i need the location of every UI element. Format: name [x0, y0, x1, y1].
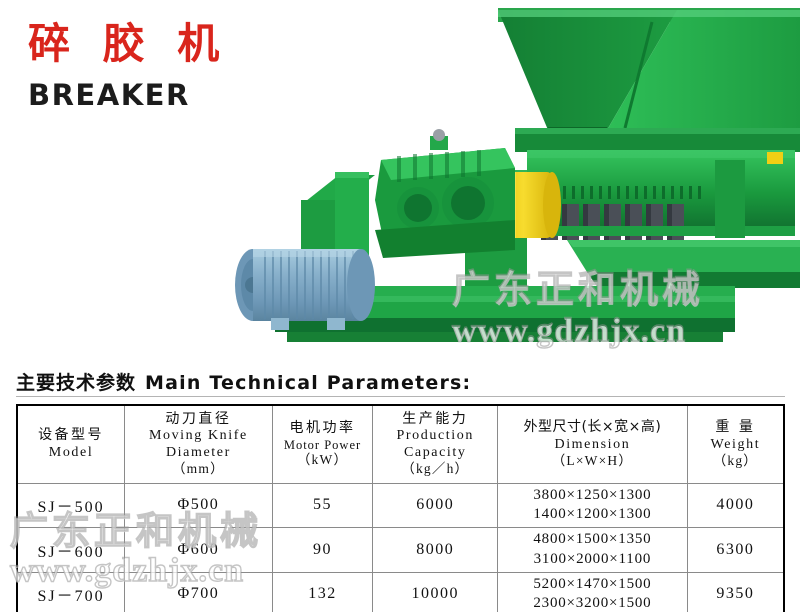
- column-header-motor-power-cn: 电机功率: [275, 420, 371, 438]
- column-header-capacity-en1: Production: [375, 428, 495, 445]
- hopper-icon: [498, 8, 800, 130]
- column-header-weight: 重 量 Weight （kg）: [687, 405, 784, 483]
- page-title-cn: 碎 胶 机: [28, 22, 228, 66]
- section-heading-en: Main Technical Parameters:: [145, 372, 471, 394]
- section-heading-cn: 主要技术参数: [16, 368, 136, 395]
- column-header-capacity: 生产能力 Production Capacity （kg／h）: [373, 405, 498, 483]
- column-header-dimension: 外型尺寸(长×宽×高) Dimension （L×W×H）: [498, 405, 688, 483]
- cell-dimension-line1: 3800×1250×1300: [500, 486, 685, 506]
- table-row: SJ－700 Φ700 132 10000 5200×1470×1500 230…: [17, 572, 784, 612]
- cell-dimension-line2: 2300×3200×1500: [500, 594, 685, 612]
- cell-model: SJ－700: [17, 572, 125, 612]
- column-header-motor-power-unit: （kW）: [275, 452, 371, 468]
- cell-dimension: 3800×1250×1300 1400×1200×1300: [498, 483, 688, 528]
- column-header-dimension-en: Dimension: [500, 437, 685, 454]
- specifications-table: 设备型号 Model 动刀直径 Moving Knife Diameter （m…: [16, 404, 785, 612]
- column-header-knife-diameter-cn: 动刀直径: [127, 411, 270, 429]
- column-header-capacity-unit: （kg／h）: [375, 461, 495, 477]
- column-header-knife-diameter-en2: Diameter: [127, 445, 270, 462]
- column-header-knife-diameter: 动刀直径 Moving Knife Diameter （mm）: [125, 405, 273, 483]
- cell-model: SJ－500: [17, 483, 125, 528]
- column-header-motor-power: 电机功率 Motor Power （kW）: [272, 405, 373, 483]
- cell-weight: 6300: [687, 528, 784, 573]
- cell-dimension-line2: 3100×2000×1100: [500, 550, 685, 570]
- cell-capacity: 10000: [373, 572, 498, 612]
- column-header-weight-unit: （kg）: [690, 453, 781, 469]
- cell-dimension: 4800×1500×1350 3100×2000×1100: [498, 528, 688, 573]
- gearbox-icon: [375, 129, 515, 258]
- column-header-model-cn: 设备型号: [20, 427, 122, 445]
- cell-knife-diameter: Φ600: [125, 528, 273, 573]
- cell-knife-diameter: Φ700: [125, 572, 273, 612]
- table-header-row: 设备型号 Model 动刀直径 Moving Knife Diameter （m…: [17, 405, 784, 483]
- cell-dimension: 5200×1470×1500 2300×3200×1500: [498, 572, 688, 612]
- title-block: 碎 胶 机 BREAKER: [28, 22, 228, 112]
- heading-divider: [16, 396, 785, 397]
- cell-model: SJ－600: [17, 528, 125, 573]
- column-header-model-en: Model: [20, 445, 122, 462]
- column-header-dimension-unit: （L×W×H）: [500, 453, 685, 469]
- column-header-capacity-en2: Capacity: [375, 445, 495, 462]
- cell-motor-power: 90: [272, 528, 373, 573]
- table-row: SJ－500 Φ500 55 6000 3800×1250×1300 1400×…: [17, 483, 784, 528]
- cell-motor-power: 132: [272, 572, 373, 612]
- output-chute-icon: [567, 240, 800, 288]
- column-header-weight-en: Weight: [690, 437, 781, 454]
- column-header-capacity-cn: 生产能力: [375, 411, 495, 429]
- column-header-dimension-cn: 外型尺寸(长×宽×高): [500, 419, 685, 437]
- cell-weight: 9350: [687, 572, 784, 612]
- column-header-motor-power-en: Motor Power: [275, 438, 371, 453]
- cell-capacity: 6000: [373, 483, 498, 528]
- cell-dimension-line1: 4800×1500×1350: [500, 530, 685, 550]
- page-title-en: BREAKER: [28, 78, 228, 112]
- cell-knife-diameter: Φ500: [125, 483, 273, 528]
- cell-dimension-line1: 5200×1470×1500: [500, 575, 685, 595]
- column-header-knife-diameter-en1: Moving Knife: [127, 428, 270, 445]
- column-header-model: 设备型号 Model: [17, 405, 125, 483]
- column-header-weight-cn: 重 量: [690, 419, 781, 437]
- product-photo: [215, 0, 800, 362]
- section-heading: 主要技术参数 Main Technical Parameters:: [16, 368, 471, 395]
- table-row: SJ－600 Φ600 90 8000 4800×1500×1350 3100×…: [17, 528, 784, 573]
- table-body: SJ－500 Φ500 55 6000 3800×1250×1300 1400×…: [17, 483, 784, 612]
- cell-dimension-line2: 1400×1200×1300: [500, 505, 685, 525]
- electric-motor-icon: [235, 249, 375, 330]
- product-spec-sheet: 碎 胶 机 BREAKER: [0, 0, 800, 612]
- column-header-knife-diameter-unit: （mm）: [127, 461, 270, 477]
- cell-motor-power: 55: [272, 483, 373, 528]
- cell-weight: 4000: [687, 483, 784, 528]
- cell-capacity: 8000: [373, 528, 498, 573]
- table-header: 设备型号 Model 动刀直径 Moving Knife Diameter （m…: [17, 405, 784, 483]
